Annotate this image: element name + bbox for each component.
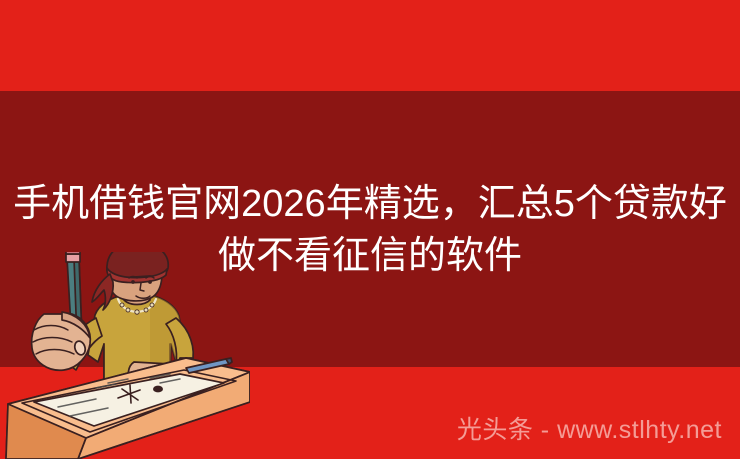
- left-hand-holding-pencil: [32, 312, 91, 370]
- illustration-person-drawing: [0, 252, 250, 459]
- watermark-text: 光头条 - www.stlhty.net: [457, 416, 722, 444]
- page-title: 手机借钱官网2026年精选，汇总5个贷款好做不看征信的软件: [0, 178, 740, 282]
- drafting-table: [6, 358, 250, 459]
- background-band-top: [0, 0, 740, 91]
- page-title-text: 手机借钱官网2026年精选，汇总5个贷款好做不看征信的软件: [13, 183, 727, 277]
- site-watermark: 光头条 - www.stlhty.net: [457, 416, 722, 444]
- promo-banner: 手机借钱官网2026年精选，汇总5个贷款好做不看征信的软件 光头条 - www.…: [0, 0, 740, 459]
